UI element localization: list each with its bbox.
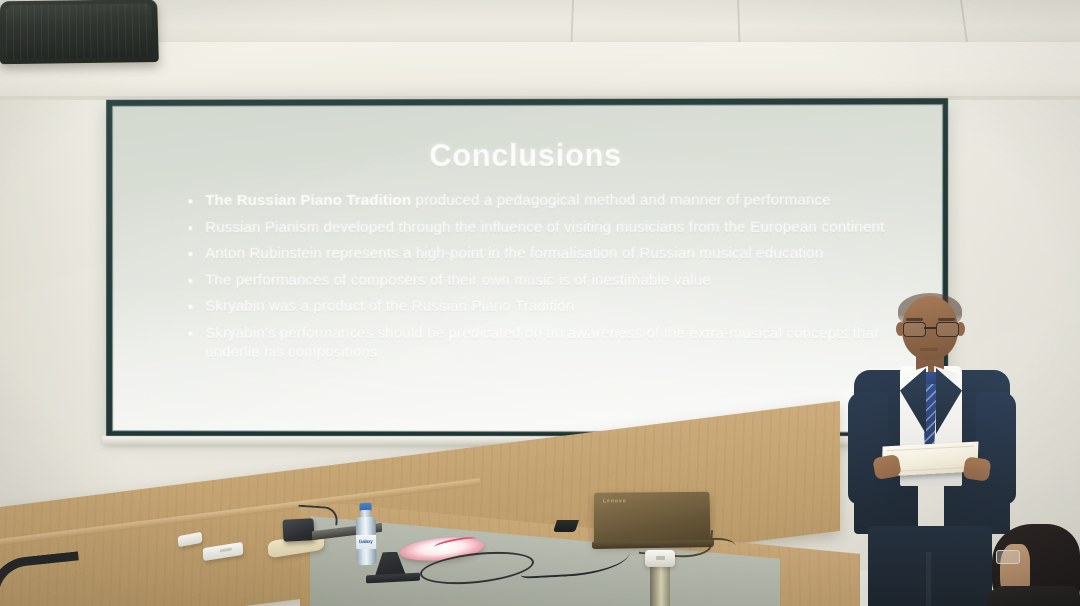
- slide-bullet: Anton Rubinstein represents a high-point…: [185, 244, 905, 264]
- ceiling-tile-seam: [737, 0, 741, 46]
- slide-bullet: The Russian Piano Tradition produced a p…: [185, 191, 905, 211]
- glasses-lens-left: [903, 322, 926, 337]
- chair-support-post: [553, 520, 579, 532]
- mouth: [920, 348, 938, 351]
- ceiling: [0, 0, 1080, 48]
- glasses-lens-right: [936, 322, 959, 337]
- glasses-bridge: [924, 327, 936, 329]
- slide-title: Conclusions: [113, 137, 942, 174]
- slide-bullet-text: Anton Rubinstein represents a high-point…: [205, 245, 823, 262]
- slide-bullet: Skryabin was a product of the Russian Pi…: [185, 297, 905, 317]
- conference-speaker-pod[interactable]: [645, 550, 675, 567]
- trouser-leg-seam: [926, 552, 931, 606]
- slide-bullet-text: Skryabin's performances should be predic…: [205, 324, 878, 361]
- slide-bullet-text: Russian Pianism developed through the in…: [205, 218, 884, 235]
- presentation-room-photo: Conclusions The Russian Piano Tradition …: [0, 0, 1080, 606]
- audience-shoulder: [986, 586, 1080, 606]
- slide-bullet-text: Skryabin was a product of the Russian Pi…: [205, 298, 574, 315]
- chair-mesh-texture: [6, 3, 153, 59]
- bottle-label: Galaxy: [356, 535, 376, 549]
- table-post: [650, 566, 670, 606]
- slide-bullet: The performances of composers of their o…: [185, 270, 905, 290]
- slide-bullet-text: produced a pedagogical method and manner…: [411, 192, 831, 209]
- audience-member: [986, 524, 1080, 606]
- projection-screen-frame: Conclusions The Russian Piano Tradition …: [106, 98, 948, 438]
- projection-screen-surface: Conclusions The Russian Piano Tradition …: [113, 105, 942, 432]
- eyebrow-right: [938, 318, 955, 321]
- office-chair-back[interactable]: [0, 0, 159, 64]
- eyeglasses-icon: [902, 322, 958, 335]
- water-bottle[interactable]: Galaxy: [355, 503, 376, 565]
- slide-bullet: Skryabin's performances should be predic…: [185, 323, 905, 363]
- ceiling-soffit: [0, 42, 1080, 104]
- slide-bullet: Russian Pianism developed through the in…: [185, 217, 905, 237]
- laptop-brand-logo: Lenovo: [603, 498, 627, 504]
- audience-glasses-icon: [996, 550, 1020, 564]
- foreground-chair-arm: [0, 551, 84, 606]
- bottle-label-text: Galaxy: [359, 539, 373, 545]
- hand-right: [963, 456, 992, 481]
- slide-bullet-bold-lead: The Russian Piano Tradition: [205, 192, 411, 209]
- eyebrow-left: [906, 318, 923, 321]
- slide-bullet-list: The Russian Piano Tradition produced a p…: [185, 191, 905, 370]
- slide-bullet-text: The performances of composers of their o…: [205, 271, 711, 288]
- ceiling-tile-seam: [960, 0, 968, 46]
- arm-right: [976, 392, 1016, 504]
- ceiling-tile-seam: [570, 0, 574, 46]
- laptop[interactable]: Lenovo: [594, 492, 711, 545]
